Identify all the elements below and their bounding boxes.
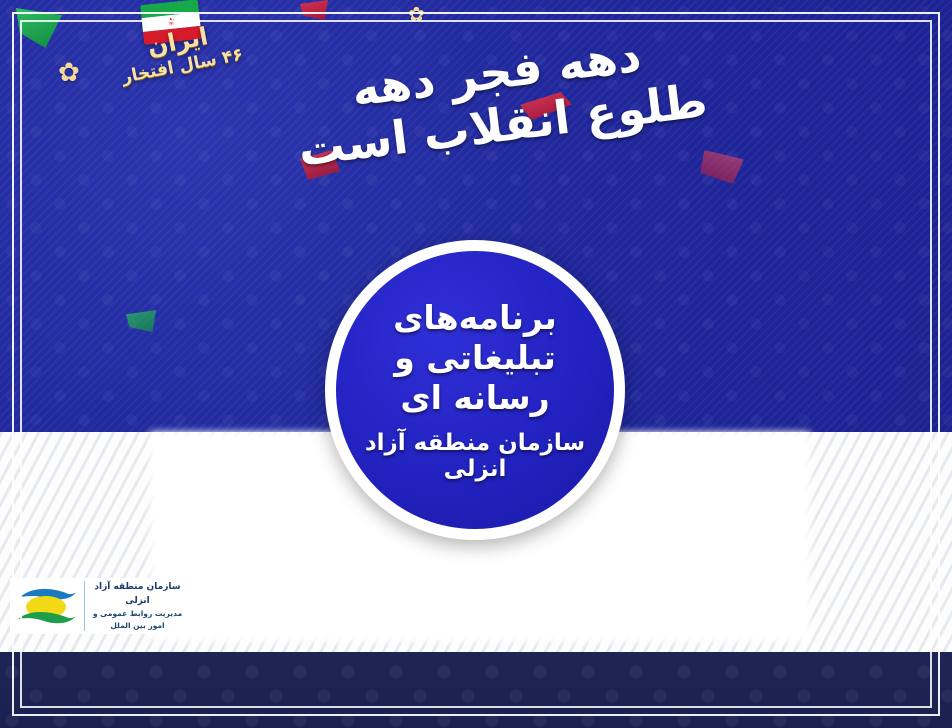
- logo-line1: سازمان منطقه آزاد انزلی: [94, 582, 180, 606]
- logo-text: سازمان منطقه آزاد انزلی مدیریت روابط عمو…: [84, 581, 184, 631]
- logo-line2: مدیریت روابط عمومی و امور بین الملل: [91, 608, 184, 631]
- infographic-poster: ✿ ✿ ⚜ ایران ۴۶ سال افتخار دهه فجر دهه طل…: [0, 0, 952, 728]
- anzali-free-zone-logo-mark: [16, 585, 78, 627]
- background-bottom-band: [0, 660, 952, 728]
- center-title: برنامه‌های تبلیغاتی و رسانه ای: [336, 298, 614, 419]
- center-subtitle: سازمان منطقه آزاد انزلی: [336, 430, 614, 482]
- flower-ornament-icon: ✿: [408, 4, 425, 24]
- organization-logo: سازمان منطقه آزاد انزلی مدیریت روابط عمو…: [10, 578, 190, 634]
- center-title-circle: برنامه‌های تبلیغاتی و رسانه ای سازمان من…: [325, 240, 625, 540]
